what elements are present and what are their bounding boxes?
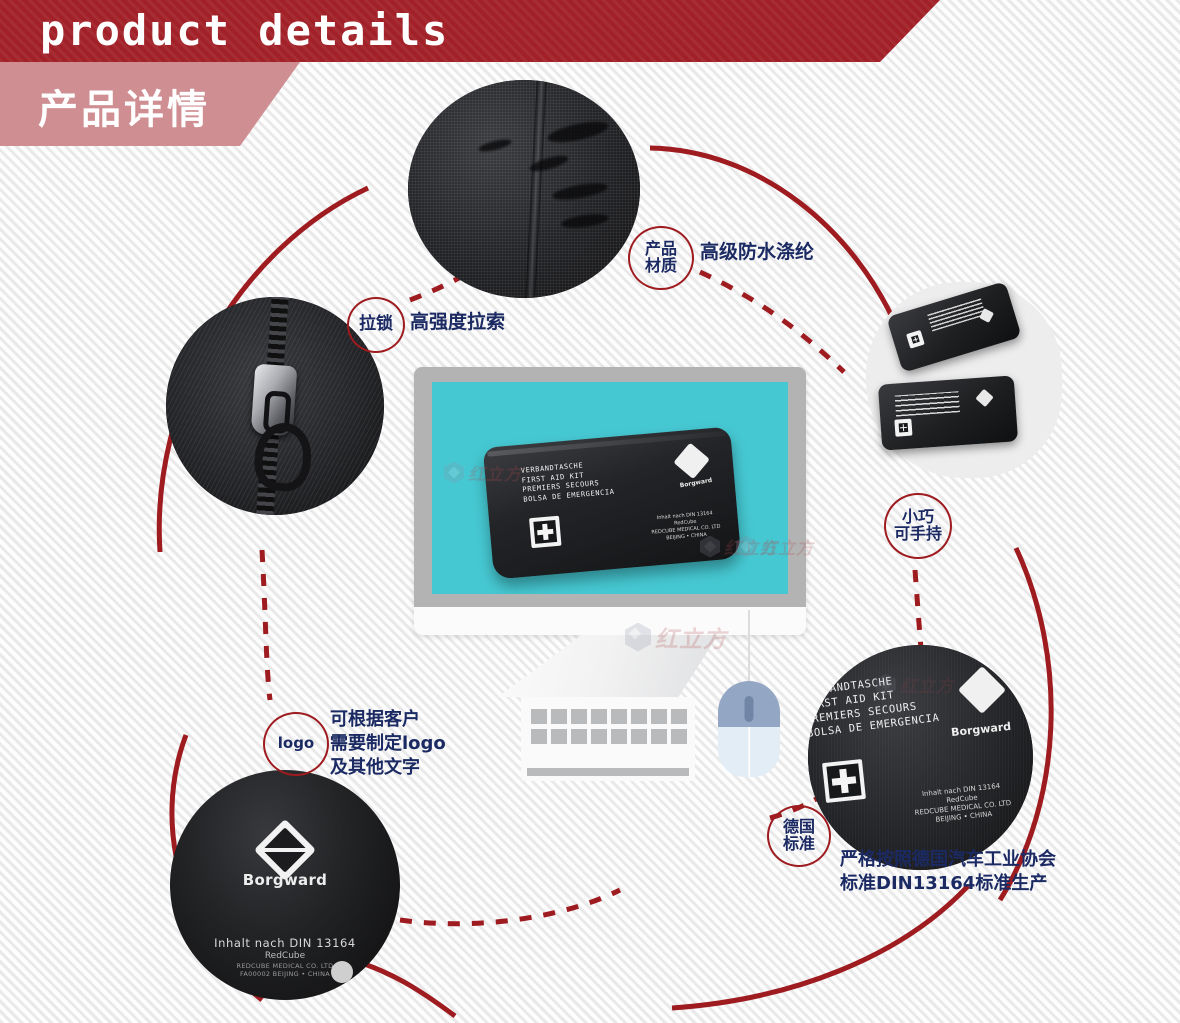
keyboard-key xyxy=(571,729,587,744)
keyboard-key xyxy=(591,709,607,724)
cross-inner xyxy=(911,335,920,344)
cross-icon xyxy=(529,516,562,549)
watermark: 红立方 xyxy=(444,460,522,485)
watermark: 红立方 xyxy=(736,534,814,559)
borgward-diamond-icon xyxy=(975,389,993,407)
brand-name: Borgward xyxy=(170,871,400,889)
minibag-upper xyxy=(886,281,1022,373)
keyboard-graphic xyxy=(521,697,695,781)
watermark-cube-icon xyxy=(876,674,896,696)
keyboard-key xyxy=(651,709,667,724)
keyboard-key xyxy=(551,729,567,744)
watermark-text: 红立方 xyxy=(900,672,954,697)
callout-bubble-compact[interactable]: 小巧 可手持 xyxy=(884,493,952,559)
keyboard-key xyxy=(611,729,627,744)
cross-horizontal xyxy=(832,776,856,785)
keyboard-key xyxy=(571,709,587,724)
photo-two-bags-group xyxy=(866,282,1062,478)
minibag-lower xyxy=(878,375,1018,450)
borgward-diamond-icon xyxy=(673,443,710,480)
cross-horizontal xyxy=(900,426,907,428)
keyboard-key xyxy=(531,729,547,744)
keyboard-key xyxy=(591,729,607,744)
mouse-wheel xyxy=(745,696,754,722)
watermark: 红立方 xyxy=(625,620,727,654)
certification-seal-icon xyxy=(331,961,353,983)
keyboard-key xyxy=(671,729,687,744)
monitor-frame: VERBANDTASCHE FIRST AID KIT PREMIERS SEC… xyxy=(414,367,806,635)
callout-text-logo: 可根据客户 需要制定logo 及其他文字 xyxy=(330,708,446,779)
callout-bubble-logo[interactable]: logo xyxy=(263,712,329,776)
watermark-cube-icon xyxy=(625,623,651,652)
mouse-button-divider xyxy=(748,727,750,777)
callout-bubble-zipper[interactable]: 拉锁 xyxy=(347,297,405,353)
keyboard-key xyxy=(651,729,667,744)
cross-icon xyxy=(906,330,925,349)
cross-inner xyxy=(899,423,909,433)
din-line: Inhalt nach DIN 13164 xyxy=(170,936,400,950)
monitor-screen: VERBANDTASCHE FIRST AID KIT PREMIERS SEC… xyxy=(432,382,788,594)
mouse-cord xyxy=(748,610,750,685)
watermark-cube-icon xyxy=(700,536,720,558)
page-title-chinese: 产品详情 xyxy=(38,77,210,135)
keyboard-key xyxy=(551,709,567,724)
watermark-cube-icon xyxy=(444,462,464,484)
keyboard-key xyxy=(631,709,647,724)
product-detail-page: product details 产品详情 xyxy=(0,0,1180,1023)
minibag-label-lines xyxy=(895,391,960,416)
company-address-line: FA00002 BEIJING • CHINA xyxy=(170,970,400,978)
redcube-line: RedCube xyxy=(170,951,400,961)
watermark-text: 红立方 xyxy=(760,534,814,559)
cross-icon xyxy=(894,419,912,437)
watermark: 红立方 xyxy=(876,672,954,697)
keyboard-key xyxy=(631,729,647,744)
callout-text-material: 高级防水涤纶 xyxy=(700,240,814,265)
cross-inner xyxy=(826,763,861,798)
brand-name: Borgward xyxy=(679,477,713,490)
watermark-text: 红立方 xyxy=(655,620,727,654)
keyboard-key xyxy=(531,709,547,724)
callout-bubble-german-standard[interactable]: 德国 标准 xyxy=(767,805,831,867)
watermark-text: 红立方 xyxy=(468,460,522,485)
photo-fabric-detail xyxy=(408,80,640,298)
keyboard-key xyxy=(611,709,627,724)
minibag-label-lines xyxy=(927,298,986,332)
callout-bubble-material[interactable]: 产品 材质 xyxy=(628,226,694,290)
company-line: REDCUBE MEDICAL CO. LTD xyxy=(170,962,400,970)
watermark-cube-icon xyxy=(736,536,756,558)
photo-logo-disc: Borgward Inhalt nach DIN 13164 RedCube R… xyxy=(170,770,400,1000)
keyboard-base xyxy=(527,768,689,776)
callout-text-zipper: 高强度拉索 xyxy=(410,310,505,335)
mouse-graphic xyxy=(718,681,780,777)
product-bag-labels: VERBANDTASCHE FIRST AID KIT PREMIERS SEC… xyxy=(521,459,615,505)
cross-icon xyxy=(822,759,866,803)
cross-horizontal xyxy=(537,529,553,535)
keyboard-keys xyxy=(531,709,687,744)
cross-inner xyxy=(533,520,557,544)
page-title-english: product details xyxy=(40,6,449,55)
callout-text-german-standard: 严格按照德国汽车工业协会 标准DIN13164标准生产 xyxy=(840,848,1056,896)
keyboard-key xyxy=(671,709,687,724)
